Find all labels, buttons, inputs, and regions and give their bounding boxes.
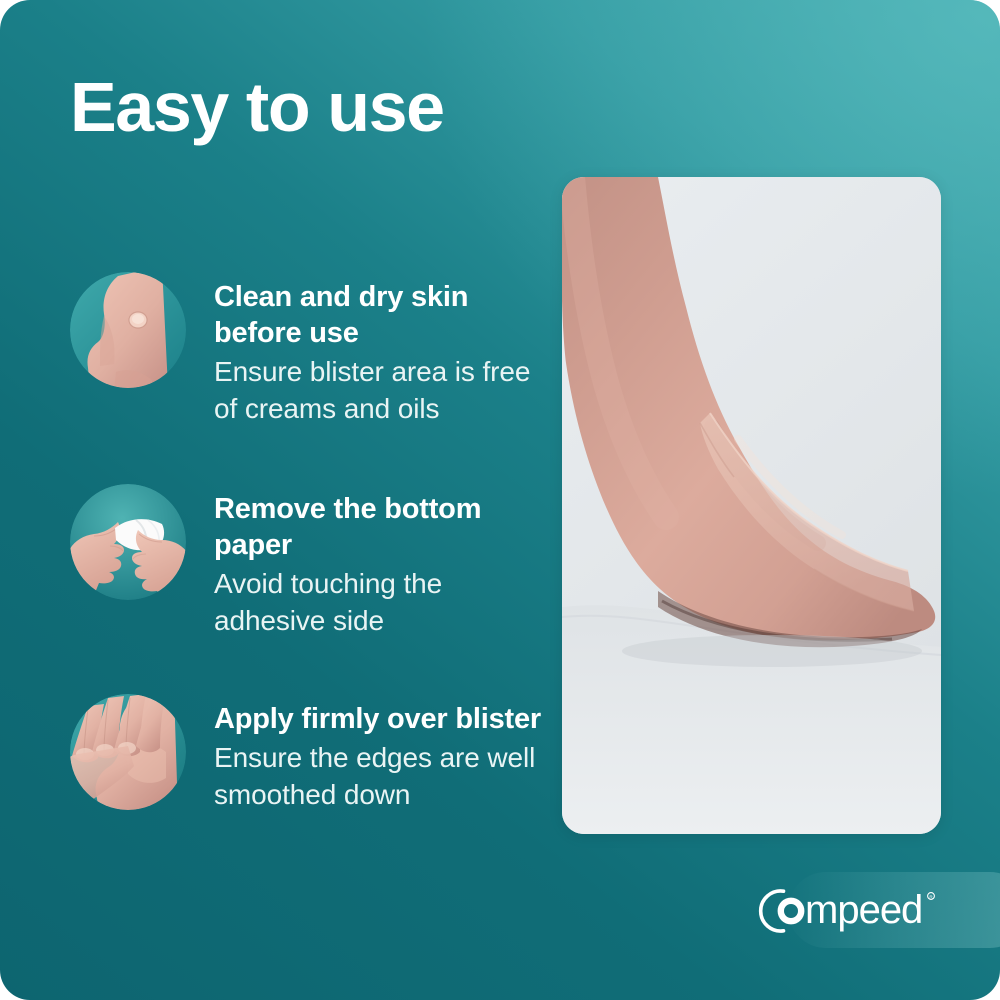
- step-3-icon: [70, 694, 186, 810]
- fingers-pressing-plaster-icon: [70, 694, 186, 810]
- step-2-icon: [70, 484, 186, 600]
- step-item: Remove the bottom paper Avoid touching t…: [70, 484, 550, 640]
- step-3-body: Ensure the edges are well smoothed down: [214, 740, 550, 814]
- product-photo-card: [562, 177, 941, 834]
- svg-text:mpeed: mpeed: [805, 888, 922, 932]
- heel-with-blister-icon: [70, 272, 186, 388]
- page-title: Easy to use: [70, 72, 444, 142]
- step-2-heading: Remove the bottom paper: [214, 492, 544, 564]
- step-2-body: Avoid touching the adhesive side: [214, 566, 550, 640]
- step-1-heading: Clean and dry skin before use: [214, 280, 544, 352]
- step-1-body: Ensure blister area is free of creams an…: [214, 354, 550, 428]
- step-3-heading: Apply firmly over blister: [214, 702, 544, 738]
- step-1-icon: [70, 272, 186, 388]
- foot-with-plaster-photo: [562, 177, 941, 834]
- step-2-text: Remove the bottom paper Avoid touching t…: [214, 484, 550, 640]
- step-1-text: Clean and dry skin before use Ensure bli…: [214, 272, 550, 428]
- step-item: Apply firmly over blister Ensure the edg…: [70, 694, 550, 814]
- step-3-text: Apply firmly over blister Ensure the edg…: [214, 694, 550, 814]
- hands-peeling-backing-icon: [70, 484, 186, 600]
- compeed-wordmark-icon: mpeed R: [753, 885, 943, 937]
- step-item: Clean and dry skin before use Ensure bli…: [70, 272, 550, 428]
- promo-canvas: Easy to use: [0, 0, 1000, 1000]
- compeed-logo: mpeed R: [753, 885, 943, 937]
